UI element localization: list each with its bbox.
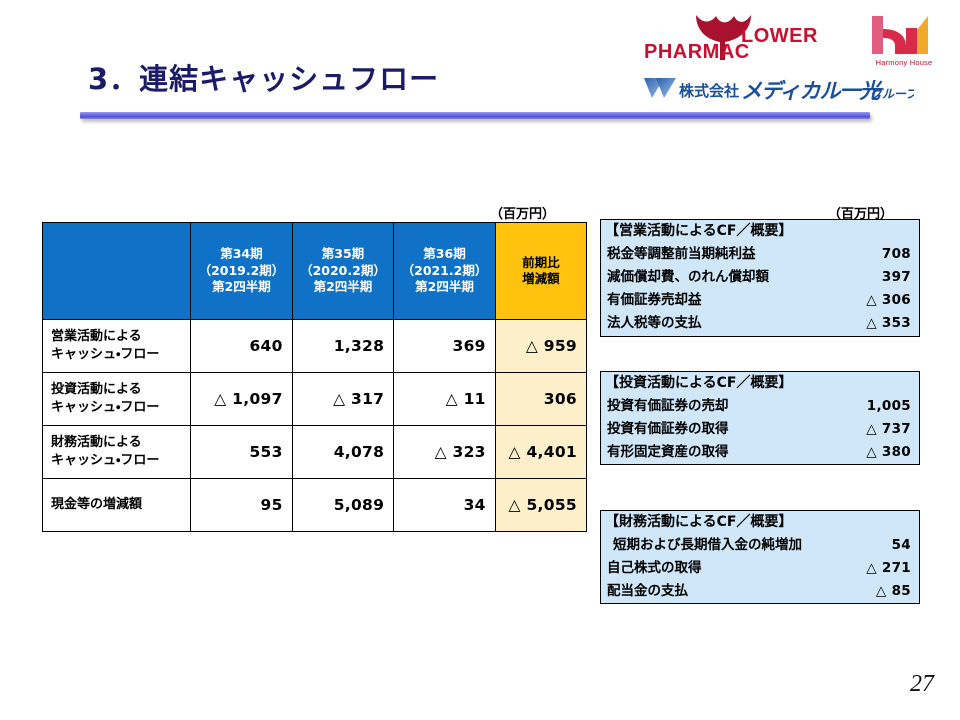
medical-ikko-logo: 株式会社 メディカル一光 グループ	[642, 74, 914, 104]
panel-row-value: △ 380	[866, 442, 911, 462]
panel-row-label: 税金等調整前当期純利益	[607, 244, 756, 264]
panel-row: 有形固定資産の取得 △ 380	[601, 441, 919, 464]
col-header-line: （2020.2期）	[293, 263, 394, 280]
panel-row: 減価償却費、のれん償却額 397	[601, 266, 919, 289]
panel-row-value: △ 306	[866, 290, 911, 310]
row-label-line: キャッシュ・フロー	[51, 452, 190, 470]
row-label-operating: 営業活動による キャッシュ・フロー	[43, 320, 191, 373]
row-label-line: キャッシュ・フロー	[51, 399, 190, 417]
table-row: 現金等の増減額 95 5,089 34 △ 5,055	[43, 479, 587, 532]
cell-net-change-p36: 34	[394, 479, 496, 532]
col-header-line: 第35期	[293, 246, 394, 263]
col-header-diff: 前期比 増減額	[495, 223, 586, 320]
page-title: 3．連結キャッシュフロー	[88, 56, 439, 98]
panel-row: 法人税等の支払 △ 353	[601, 312, 919, 335]
harmony-house-logo: Harmony House	[868, 14, 940, 66]
panel-row-label: 短期および長期借入金の純増加	[607, 535, 802, 555]
col-header-line: 第36期	[394, 246, 495, 263]
cell-financing-p36: △ 323	[394, 426, 496, 479]
medical-ikko-logo-svg: 株式会社 メディカル一光 グループ	[642, 74, 914, 104]
panel-row-label: 法人税等の支払	[607, 313, 702, 333]
col-header-line: 前期比	[496, 255, 586, 272]
cell-operating-p36: 369	[394, 320, 496, 373]
cell-net-change-diff: △ 5,055	[495, 479, 586, 532]
cell-investing-p35: △ 317	[292, 373, 394, 426]
panel-row: 自己株式の取得 △ 271	[601, 557, 919, 580]
medical-ikko-prefix: 株式会社	[679, 82, 739, 100]
panel-row-value: △ 737	[866, 419, 911, 439]
col-header-period-36: 第36期 （2021.2期） 第2四半期	[394, 223, 496, 320]
unit-caption-left: （百万円）	[490, 203, 555, 222]
panel-row-label: 有価証券売却益	[607, 290, 702, 310]
hh-leg-icon	[906, 28, 917, 54]
row-label-line: キャッシュ・フロー	[51, 346, 190, 364]
panel-row: 投資有価証券の取得 △ 737	[601, 418, 919, 441]
cell-operating-p34: 640	[191, 320, 293, 373]
table-header-row: 第34期 （2019.2期） 第2四半期 第35期 （2020.2期） 第2四半…	[43, 223, 587, 320]
medical-ikko-suffix: グループ	[870, 87, 914, 101]
pharmacy-flower-logo: PHARMAC LOWER	[644, 12, 834, 64]
hh-arch-icon	[883, 29, 906, 54]
row-label-line: 現金等の増減額	[51, 496, 190, 514]
col-header-line: 第34期	[191, 246, 292, 263]
panel-row: 短期および長期借入金の純増加 54	[601, 534, 919, 557]
col-header-line: 第2四半期	[191, 279, 292, 296]
panel-row-value: 54	[892, 535, 911, 555]
page-number: 27	[910, 671, 934, 698]
row-label-financing: 財務活動による キャッシュ・フロー	[43, 426, 191, 479]
pharmacy-flower-logo-svg: PHARMAC LOWER	[644, 12, 834, 64]
cashflow-table-body: 営業活動による キャッシュ・フロー 640 1,328 369 △ 959 投資…	[43, 320, 587, 532]
cell-investing-p34: △ 1,097	[191, 373, 293, 426]
panel-row-value: △ 353	[866, 313, 911, 333]
cell-investing-p36: △ 11	[394, 373, 496, 426]
panel-row-value: △ 271	[866, 558, 911, 578]
row-label-line: 投資活動による	[51, 381, 190, 399]
row-label-line: 営業活動による	[51, 328, 190, 346]
cell-financing-p34: 553	[191, 426, 293, 479]
panel-row-label: 減価償却費、のれん償却額	[607, 267, 769, 287]
col-header-line: 第2四半期	[293, 279, 394, 296]
pharmacy-flower-right-text: LOWER	[741, 25, 818, 47]
cashflow-table-head: 第34期 （2019.2期） 第2四半期 第35期 （2020.2期） 第2四半…	[43, 223, 587, 320]
col-header-line: （2019.2期）	[191, 263, 292, 280]
panel-title-financing: 【財務活動によるCF／概要】	[601, 511, 919, 534]
cell-operating-p35: 1,328	[292, 320, 394, 373]
cell-net-change-p34: 95	[191, 479, 293, 532]
summary-panel-investing: 【投資活動によるCF／概要】 投資有価証券の売却 1,005 投資有価証券の取得…	[600, 371, 920, 465]
pharmacy-flower-left-text: PHARMAC	[644, 41, 750, 63]
cashflow-table: 第34期 （2019.2期） 第2四半期 第35期 （2020.2期） 第2四半…	[42, 222, 587, 532]
col-header-line: （2021.2期）	[394, 263, 495, 280]
cell-net-change-p35: 5,089	[292, 479, 394, 532]
panel-row-value: 1,005	[867, 396, 911, 416]
panel-title-investing: 【投資活動によるCF／概要】	[601, 372, 919, 395]
summary-panel-operating: 【営業活動によるCF／概要】 税金等調整前当期純利益 708 減価償却費、のれん…	[600, 219, 920, 337]
panel-row-label: 有形固定資産の取得	[607, 442, 729, 462]
cell-financing-p35: 4,078	[292, 426, 394, 479]
logo-area: PHARMAC LOWER Harmony House 株式会社 メ	[642, 8, 942, 113]
col-header-period-34: 第34期 （2019.2期） 第2四半期	[191, 223, 293, 320]
panel-row: 投資有価証券の売却 1,005	[601, 395, 919, 418]
row-label-line: 財務活動による	[51, 434, 190, 452]
medical-ikko-main: メディカル一光	[741, 79, 884, 103]
panel-row: 税金等調整前当期純利益 708	[601, 243, 919, 266]
table-row: 投資活動による キャッシュ・フロー △ 1,097 △ 317 △ 11 306	[43, 373, 587, 426]
panel-row-value: 397	[882, 267, 911, 287]
panel-title-operating: 【営業活動によるCF／概要】	[601, 220, 919, 243]
col-header-line: 増減額	[496, 271, 586, 288]
title-divider	[80, 112, 870, 119]
panel-row: 有価証券売却益 △ 306	[601, 289, 919, 312]
panel-row-value: △ 85	[876, 581, 911, 601]
row-label-net-change: 現金等の増減額	[43, 479, 191, 532]
panel-row: 配当金の支払 △ 85	[601, 580, 919, 603]
col-header-line: 第2四半期	[394, 279, 495, 296]
cell-investing-diff: 306	[495, 373, 586, 426]
panel-row-label: 配当金の支払	[607, 581, 688, 601]
row-label-investing: 投資活動による キャッシュ・フロー	[43, 373, 191, 426]
swoosh-triangle-right-icon	[656, 78, 676, 98]
cell-financing-diff: △ 4,401	[495, 426, 586, 479]
harmony-house-caption: Harmony House	[868, 58, 940, 67]
panel-row-value: 708	[882, 244, 911, 264]
table-row: 財務活動による キャッシュ・フロー 553 4,078 △ 323 △ 4,40…	[43, 426, 587, 479]
col-header-label	[43, 223, 191, 320]
panel-row-label: 投資有価証券の取得	[607, 419, 729, 439]
panel-row-label: 自己株式の取得	[607, 558, 702, 578]
col-header-period-35: 第35期 （2020.2期） 第2四半期	[292, 223, 394, 320]
table-row: 営業活動による キャッシュ・フロー 640 1,328 369 △ 959	[43, 320, 587, 373]
hh-stem-icon	[872, 16, 883, 54]
summary-panel-financing: 【財務活動によるCF／概要】 短期および長期借入金の純増加 54 自己株式の取得…	[600, 510, 920, 604]
panel-row-label: 投資有価証券の売却	[607, 396, 729, 416]
cell-operating-diff: △ 959	[495, 320, 586, 373]
